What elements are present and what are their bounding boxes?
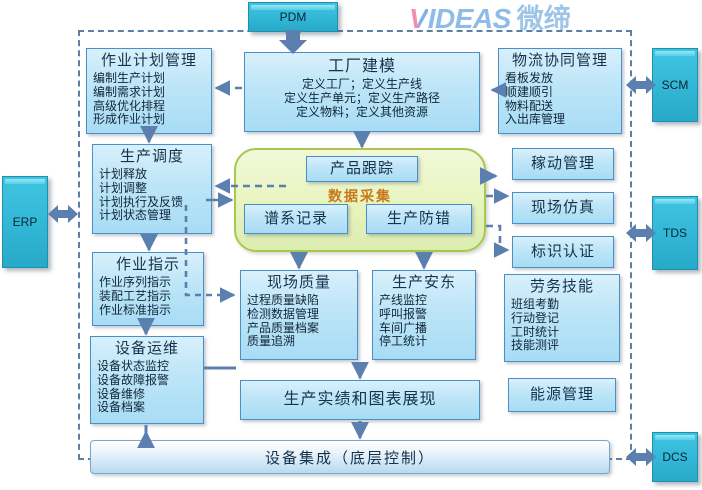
module-item: 计划状态管理: [99, 209, 211, 223]
module-item: 停工统计: [379, 335, 475, 349]
module-production-scheduling[interactable]: 生产调度 计划释放 计划调整 计划执行及反馈 计划状态管理: [92, 144, 212, 234]
module-title: 现场仿真: [531, 199, 595, 218]
module-item: 编制生产计划: [93, 72, 211, 86]
module-genealogy-record[interactable]: 谱系记录: [244, 204, 348, 234]
module-item: 呼叫报警: [379, 308, 475, 322]
module-item: 产线监控: [379, 294, 475, 308]
module-labor-skills[interactable]: 劳务技能 班组考勤 行动登记 工时统计 技能测评: [504, 274, 620, 362]
module-item: 计划调整: [99, 182, 211, 196]
module-production-plan-management[interactable]: 作业计划管理 编制生产计划 编制需求计划 高级优化排程 形成作业计划: [86, 48, 212, 134]
module-item-list: 作业序列指示 装配工艺指示 作业标准指示: [93, 275, 203, 318]
module-equipment-integration[interactable]: 设备集成（底层控制）: [90, 440, 610, 474]
module-item: 看板发放: [505, 72, 621, 86]
module-title: 谱系记录: [264, 210, 328, 229]
module-title: 现场质量: [241, 271, 357, 293]
module-product-tracking[interactable]: 产品跟踪: [306, 156, 418, 182]
module-item: 技能测评: [511, 339, 619, 353]
module-title: 作业指示: [93, 253, 203, 275]
module-error-proofing[interactable]: 生产防错: [366, 204, 472, 234]
module-identification-certification[interactable]: 标识认证: [512, 236, 614, 268]
module-item-list: 编制生产计划 编制需求计划 高级优化排程 形成作业计划: [87, 71, 211, 128]
module-work-instruction[interactable]: 作业指示 作业序列指示 装配工艺指示 作业标准指示: [92, 252, 204, 326]
module-equipment-maintenance[interactable]: 设备运维 设备状态监控 设备故障报警 设备维修 设备档案: [90, 336, 204, 424]
module-title: 生产实绩和图表展现: [283, 390, 436, 410]
module-item-list: 定义工厂；定义生产线 定义生产单元；定义生产路径 定义物料；定义其他资源: [245, 77, 479, 120]
module-item-list: 看板发放 顺建顺引 物料配送 入出库管理: [499, 71, 621, 128]
external-system-dcs[interactable]: DCS: [652, 432, 698, 482]
module-utilization-management[interactable]: 稼动管理: [512, 148, 614, 180]
module-title: 生产安东: [373, 271, 475, 293]
module-item: 过程质量缺陷: [247, 294, 357, 308]
external-system-pdm[interactable]: PDM: [248, 2, 338, 32]
module-item: 定义生产单元；定义生产路径: [245, 92, 479, 106]
module-item: 定义物料；定义其他资源: [245, 106, 479, 120]
module-title: 生产调度: [93, 145, 211, 167]
module-item: 设备状态监控: [97, 360, 203, 374]
external-system-dcs-label: DCS: [662, 450, 687, 464]
module-title: 能源管理: [530, 386, 594, 405]
module-production-performance-charts[interactable]: 生产实绩和图表展现: [240, 380, 480, 420]
module-item: 行动登记: [511, 312, 619, 326]
module-item: 班组考勤: [511, 298, 619, 312]
module-item: 质量追溯: [247, 335, 357, 349]
module-energy-management[interactable]: 能源管理: [508, 378, 616, 412]
external-system-tds[interactable]: TDS: [652, 196, 698, 270]
module-title: 劳务技能: [505, 275, 619, 297]
external-system-pdm-label: PDM: [280, 10, 307, 24]
module-item: 作业序列指示: [99, 276, 203, 290]
module-item-list: 过程质量缺陷 检测数据管理 产品质量档案 质量追溯: [241, 293, 357, 350]
module-onsite-simulation[interactable]: 现场仿真: [512, 192, 614, 224]
module-title: 设备运维: [91, 337, 203, 359]
module-title: 稼动管理: [531, 155, 595, 174]
module-item: 设备故障报警: [97, 374, 203, 388]
external-system-scm[interactable]: SCM: [652, 48, 698, 122]
external-system-scm-label: SCM: [662, 78, 689, 92]
data-acquisition-label: 数据采集: [234, 186, 486, 206]
external-system-tds-label: TDS: [663, 226, 687, 240]
module-production-andon[interactable]: 生产安东 产线监控 呼叫报警 车间广播 停工统计: [372, 270, 476, 360]
module-title: 作业计划管理: [87, 49, 211, 71]
logo-wordmark: IDEAS: [428, 5, 511, 33]
module-item: 定义工厂；定义生产线: [245, 78, 479, 92]
external-system-erp[interactable]: ERP: [2, 176, 48, 268]
module-factory-modeling[interactable]: 工厂建模 定义工厂；定义生产线 定义生产单元；定义生产路径 定义物料；定义其他资…: [244, 52, 480, 132]
logo-v-mark: V: [409, 5, 428, 33]
module-item: 作业标准指示: [99, 304, 203, 318]
module-item: 检测数据管理: [247, 308, 357, 322]
module-onsite-quality[interactable]: 现场质量 过程质量缺陷 检测数据管理 产品质量档案 质量追溯: [240, 270, 358, 360]
module-title: 标识认证: [531, 243, 595, 262]
diagram-canvas: VIDEAS微缔 PDM ERP SCM TDS DCS 作业计划管理 编制生产…: [0, 0, 702, 490]
module-title: 生产防错: [387, 210, 451, 229]
module-item-list: 设备状态监控 设备故障报警 设备维修 设备档案: [91, 359, 203, 416]
module-item: 编制需求计划: [93, 86, 211, 100]
module-item: 形成作业计划: [93, 113, 211, 127]
module-item: 设备档案: [97, 401, 203, 415]
module-title: 工厂建模: [245, 53, 479, 77]
module-item: 入出库管理: [505, 113, 621, 127]
module-item-list: 计划释放 计划调整 计划执行及反馈 计划状态管理: [93, 167, 211, 224]
logo-chinese-name: 微缔: [517, 6, 571, 33]
module-item-list: 班组考勤 行动登记 工时统计 技能测评: [505, 297, 619, 354]
external-system-erp-label: ERP: [13, 215, 38, 229]
module-item: 高级优化排程: [93, 100, 211, 114]
module-item: 工时统计: [511, 326, 619, 340]
module-item: 计划释放: [99, 168, 211, 182]
module-item-list: 产线监控 呼叫报警 车间广播 停工统计: [373, 293, 475, 350]
module-title: 产品跟踪: [330, 160, 394, 179]
module-logistics-coordination[interactable]: 物流协同管理 看板发放 顺建顺引 物料配送 入出库管理: [498, 48, 622, 134]
module-item: 装配工艺指示: [99, 290, 203, 304]
module-item: 顺建顺引: [505, 86, 621, 100]
module-title: 设备集成（底层控制）: [265, 447, 435, 468]
module-title: 物流协同管理: [499, 49, 621, 71]
